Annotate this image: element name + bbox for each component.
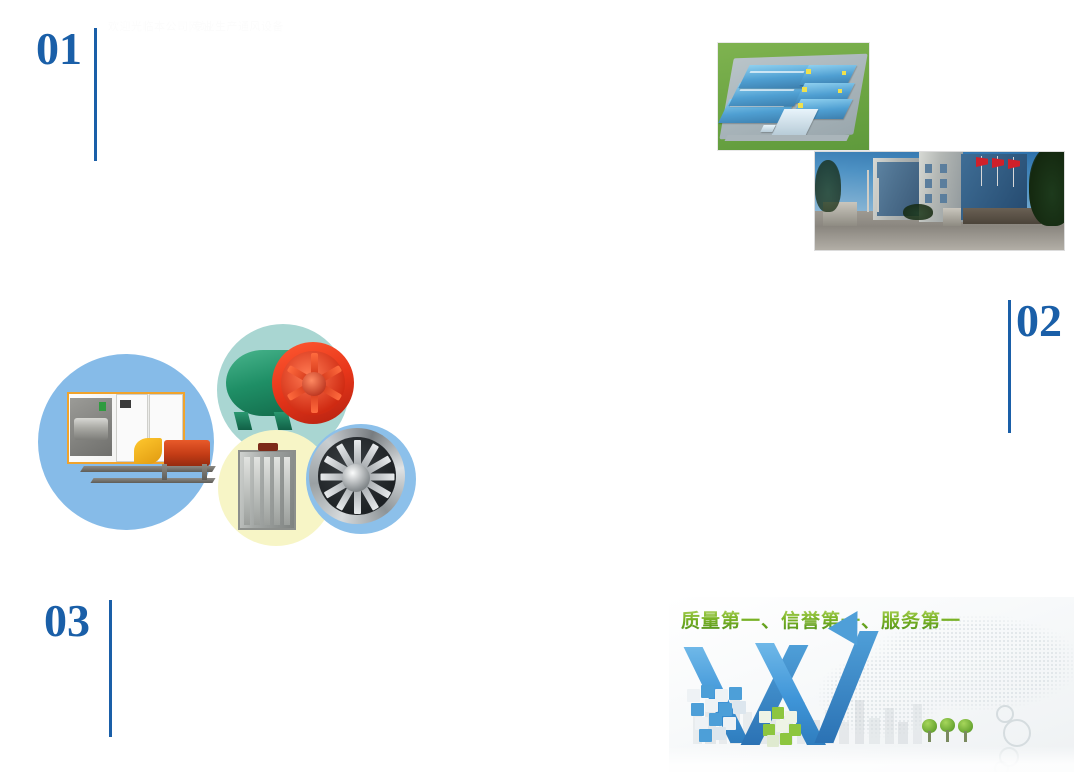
cabinet-motor-foot	[202, 464, 207, 480]
ghost-text-line-b: 专业生产通风设备	[192, 18, 284, 34]
office-window	[940, 164, 947, 173]
damper-blade	[254, 457, 260, 525]
damper-blade	[264, 457, 270, 525]
factory-hall-ridge-3	[750, 71, 805, 73]
cabinet-label-badge	[99, 402, 106, 411]
cabinet-motor	[164, 440, 210, 466]
cabinet-base-rail	[80, 466, 216, 472]
office-window	[940, 194, 947, 203]
damper-blade	[284, 457, 290, 525]
section-rule-02	[1008, 300, 1011, 433]
damper-frame	[238, 450, 296, 530]
cube	[687, 689, 700, 702]
axial-fan-hub	[302, 372, 326, 396]
damper-blade	[274, 457, 280, 525]
office-gate-pillar	[943, 208, 961, 226]
section-number-02: 02	[1016, 298, 1062, 344]
cube	[729, 687, 742, 700]
factory-marker-5	[838, 89, 842, 93]
bubble-ring-large	[1003, 719, 1031, 747]
cabinet-control-box	[120, 400, 131, 408]
office-low-wall	[963, 208, 1041, 224]
damper-actuator	[258, 443, 278, 451]
office-tree-right	[1029, 152, 1064, 226]
section-number-01: 01	[36, 26, 82, 72]
tree-trunk	[946, 730, 949, 742]
office-building-photo	[815, 152, 1064, 250]
tree-trunk	[928, 731, 931, 742]
office-tree-left	[815, 160, 841, 212]
cube	[772, 707, 784, 719]
cube	[776, 720, 788, 732]
impeller-hub	[342, 464, 370, 492]
factory-render-image	[718, 43, 869, 150]
product-collage	[30, 320, 430, 550]
cabinet-base-rail	[90, 478, 215, 483]
section-rule-01	[94, 28, 97, 161]
factory-marker-3	[798, 103, 803, 108]
cube	[780, 733, 792, 745]
cube	[713, 727, 726, 740]
factory-hall-4	[799, 65, 857, 85]
section-rule-03	[109, 600, 112, 737]
factory-marker-2	[802, 87, 807, 92]
factory-marker-1	[806, 69, 811, 74]
cube	[709, 713, 722, 726]
cube	[705, 699, 718, 712]
utility-pole	[867, 170, 869, 212]
cube	[699, 729, 712, 742]
office-window	[925, 164, 932, 173]
factory-hall-ridge-2	[740, 89, 795, 91]
cube	[691, 703, 704, 716]
banner-slogan: 质量第一、信誉第一、服务第一	[681, 606, 961, 633]
cube	[759, 711, 771, 723]
office-shrub	[903, 204, 933, 220]
cabinet-fan-wheel	[74, 418, 108, 440]
cube	[701, 685, 714, 698]
quality-slogan-banner: 质量第一、信誉第一、服务第一	[669, 597, 1074, 772]
office-window	[925, 179, 932, 188]
factory-marker-4	[842, 71, 846, 75]
company-profile-page: 欢迎光临本公司网站 专业生产通风设备 01	[0, 0, 1074, 772]
section-number-03: 03	[44, 598, 90, 644]
tree-trunk	[964, 731, 967, 742]
factory-road	[725, 135, 850, 141]
office-window	[925, 194, 932, 203]
office-window	[940, 179, 947, 188]
cube	[733, 701, 746, 714]
damper-blade	[244, 457, 250, 525]
cabinet-belt-guard	[134, 438, 162, 464]
cabinet-motor-foot	[162, 464, 167, 480]
utility-pole	[877, 178, 879, 212]
banner-floor-reflection	[669, 746, 1074, 772]
